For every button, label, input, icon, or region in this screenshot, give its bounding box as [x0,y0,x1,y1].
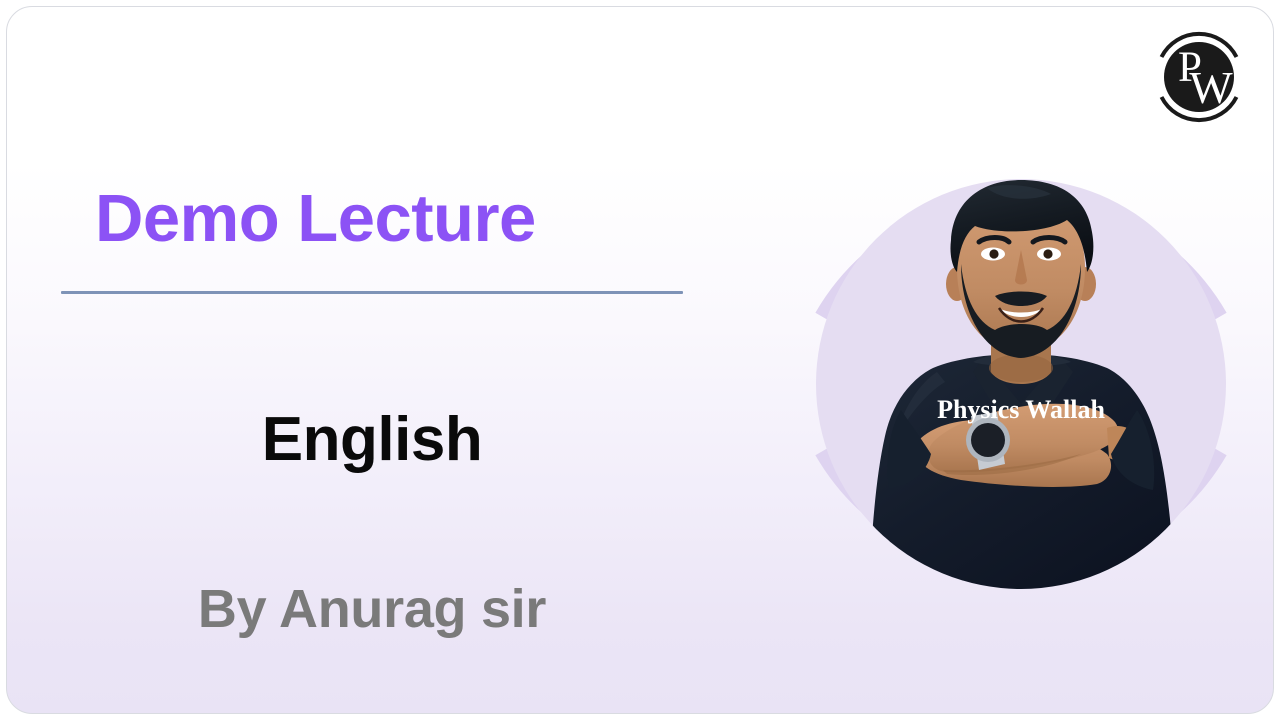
neck-shadow [989,354,1053,382]
pw-logo: P W [1145,23,1253,131]
slide-card: P W Demo Lecture English By Anurag sir [6,6,1274,714]
pupil-left [989,249,998,258]
pw-logo-letter-w: W [1189,62,1233,113]
shirt-logo-text: Physics Wallah [937,395,1105,424]
subject-heading: English [61,405,683,474]
instructor-portrait: Physics Wallah [782,145,1260,623]
watch-face [971,423,1005,457]
presenter-byline: By Anurag sir [61,579,683,639]
instructor-photo: Physics Wallah [815,172,1227,596]
pupil-right [1043,249,1052,258]
slide-text-column: Demo Lecture English By Anurag sir [7,7,737,714]
title-divider [61,291,683,294]
slide-title: Demo Lecture [95,185,536,252]
